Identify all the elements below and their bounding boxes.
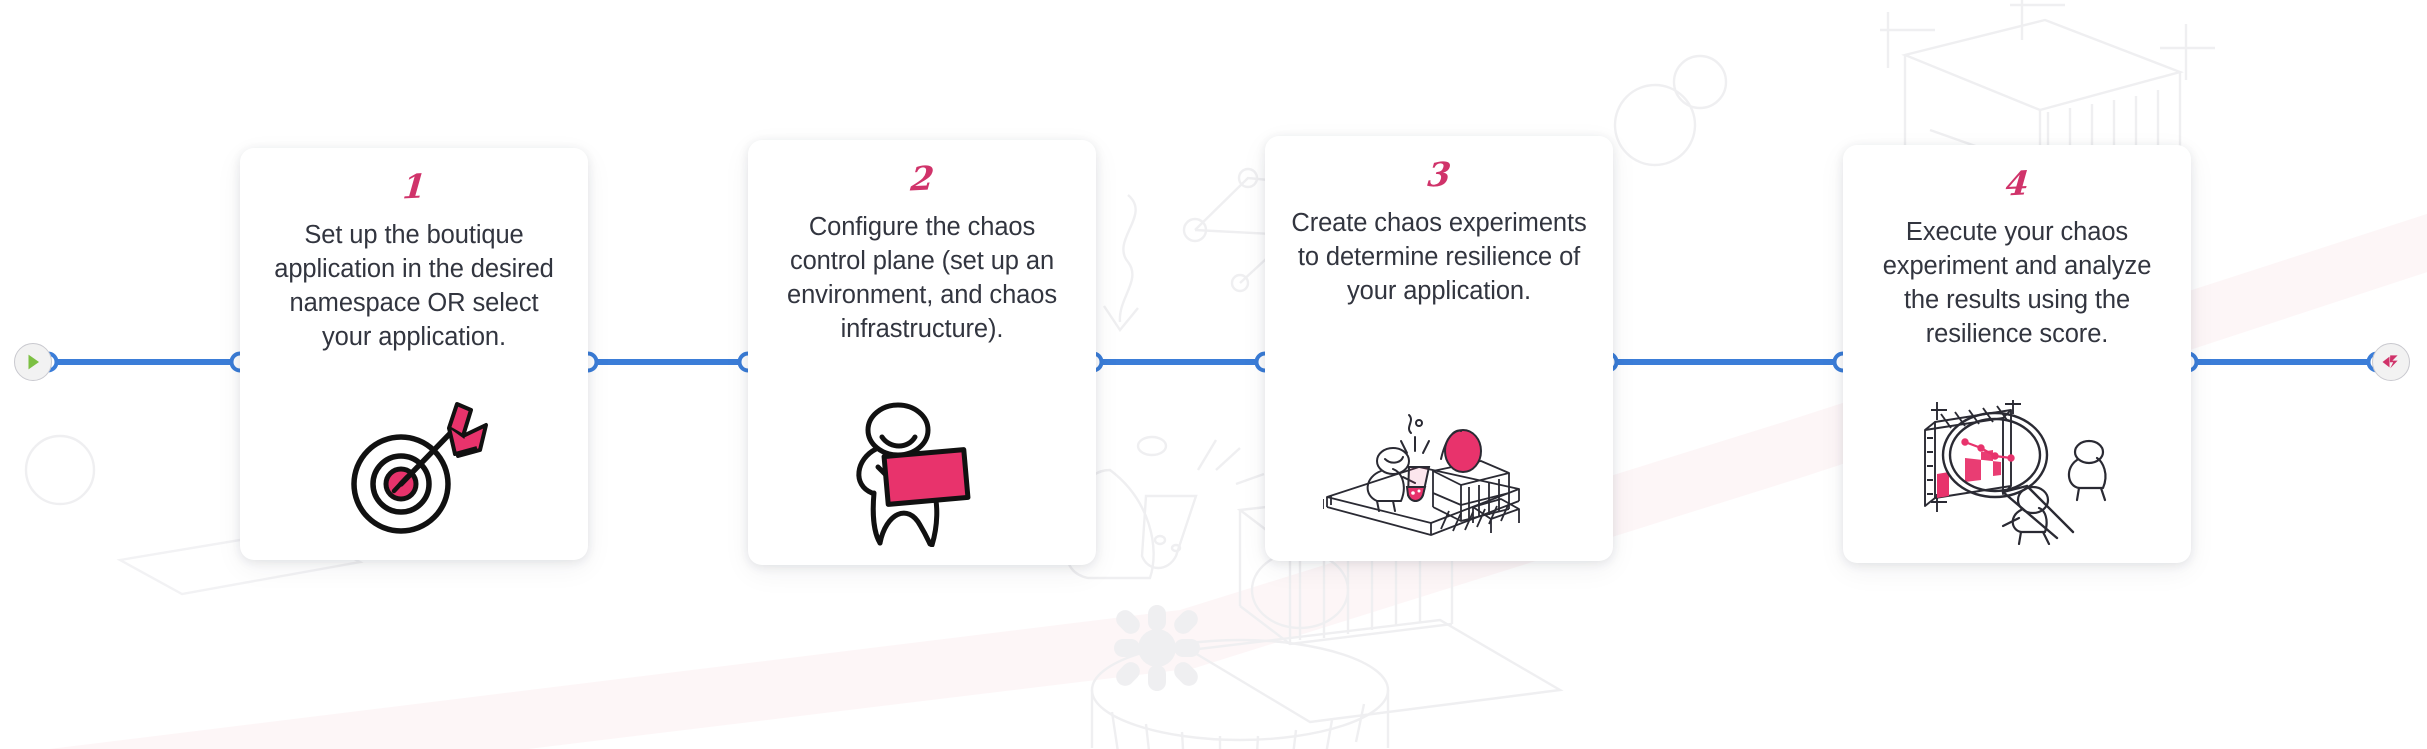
step-number-2: 2 (909, 161, 934, 195)
step-card-4[interactable]: 4 Execute your chaos experiment and anal… (1843, 145, 2191, 563)
person-with-panel-icon (842, 397, 1002, 547)
start-marker[interactable] (14, 343, 52, 381)
magnifier-over-chart-icon (1907, 400, 2127, 545)
end-marker[interactable] (2372, 343, 2410, 381)
step-number-1: 1 (401, 169, 426, 203)
step-card-3[interactable]: 3 Create chaos experiments to determine … (1265, 136, 1613, 561)
scientist-with-flask-icon (1323, 411, 1555, 543)
step-text-3: Create chaos experiments to determine re… (1291, 207, 1587, 309)
litmus-logo-icon (2380, 351, 2402, 373)
step-text-1: Set up the boutique application in the d… (266, 219, 562, 355)
step-card-1[interactable]: 1 Set up the boutique application in the… (240, 148, 588, 560)
connector-step-1-to-step-2 (580, 354, 757, 371)
play-icon (23, 352, 43, 372)
connector-step-2-to-step-3 (1085, 354, 1274, 371)
step-illustration-2 (774, 397, 1070, 547)
step-card-2[interactable]: 2 Configure the chaos control plane (set… (748, 140, 1096, 565)
connector-step-4-to-end (2180, 354, 2386, 371)
step-illustration-4 (1869, 400, 2165, 545)
step-number-4: 4 (2004, 166, 2029, 200)
step-text-2: Configure the chaos control plane (set u… (774, 211, 1070, 347)
target-with-arrow-icon (339, 392, 489, 542)
step-illustration-1 (266, 392, 562, 542)
step-number-3: 3 (1426, 157, 1451, 191)
step-illustration-3 (1291, 411, 1587, 543)
connector-step-3-to-step-4 (1600, 354, 1852, 371)
connector-start-to-step-1 (40, 354, 249, 371)
step-text-4: Execute your chaos experiment and analyz… (1869, 216, 2165, 352)
